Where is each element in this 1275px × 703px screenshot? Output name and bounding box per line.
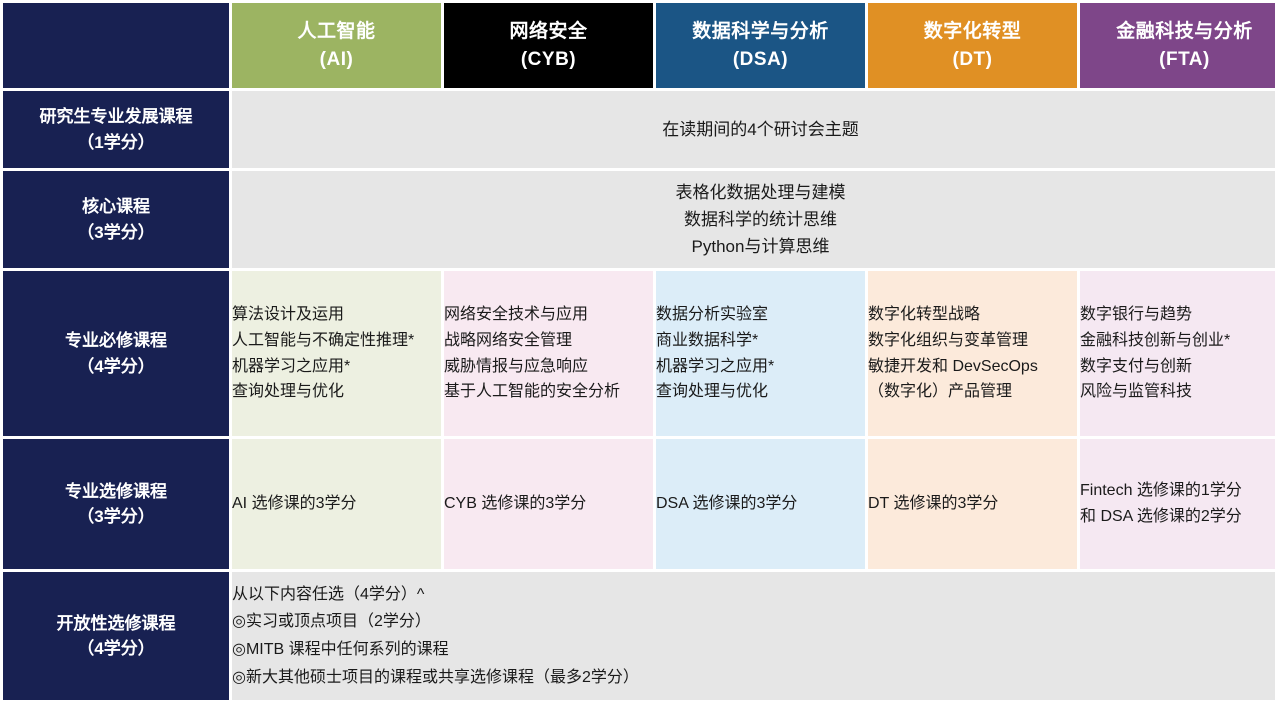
table-row-core: 核心课程 （3学分） 表格化数据处理与建模 数据科学的统计思维 Python与计…	[3, 171, 1275, 268]
cell-required-ai-line-2: 人工智能与不确定性推理*	[232, 328, 441, 354]
column-header-dsa-name: 数据科学与分析	[692, 21, 829, 42]
cell-required-ai-line-3: 机器学习之应用*	[232, 354, 441, 380]
row-label-pgpd-text: 研究生专业发展课程	[40, 107, 193, 126]
column-header-cyb-name: 网络安全	[509, 21, 587, 42]
row-label-core-credits: （3学分）	[3, 220, 229, 246]
column-header-dt-name: 数字化转型	[924, 21, 1022, 42]
cell-open-line-2: ◎实习或顶点项目（2学分）	[232, 608, 1275, 636]
column-header-ai: 人工智能 (AI)	[232, 3, 441, 88]
cell-required-ai-line-1: 算法设计及运用	[232, 302, 441, 328]
column-header-ai-name: 人工智能	[297, 21, 375, 42]
cell-elective-dsa: DSA 选修课的3学分	[656, 439, 865, 569]
cell-elective-cyb: CYB 选修课的3学分	[444, 439, 653, 569]
cell-required-fta-line-4: 风险与监管科技	[1080, 379, 1275, 405]
row-label-core: 核心课程 （3学分）	[3, 171, 229, 268]
column-header-dsa: 数据科学与分析 (DSA)	[656, 3, 865, 88]
curriculum-table: 人工智能 (AI) 网络安全 (CYB) 数据科学与分析 (DSA) 数字化转型…	[0, 0, 1275, 703]
cell-core-line-1: 表格化数据处理与建模	[232, 179, 1275, 206]
row-label-elective-credits: （3学分）	[3, 504, 229, 530]
cell-elective-cyb-line-1: CYB 选修课的3学分	[444, 491, 653, 517]
row-label-open: 开放性选修课程 （4学分）	[3, 572, 229, 700]
column-header-cyb-abbr: (CYB)	[444, 46, 653, 74]
cell-elective-dt-line-1: DT 选修课的3学分	[868, 491, 1077, 517]
cell-elective-dsa-line-1: DSA 选修课的3学分	[656, 491, 865, 517]
cell-required-fta-line-3: 数字支付与创新	[1080, 354, 1275, 380]
cell-elective-dt: DT 选修课的3学分	[868, 439, 1077, 569]
cell-open-line-3: ◎MITB 课程中任何系列的课程	[232, 636, 1275, 664]
cell-required-fta-line-2: 金融科技创新与创业*	[1080, 328, 1275, 354]
row-label-core-text: 核心课程	[82, 197, 150, 216]
cell-pgpd-line-1: 在读期间的4个研讨会主题	[232, 116, 1275, 143]
table-row-open: 开放性选修课程 （4学分） 从以下内容任选（4学分）^ ◎实习或顶点项目（2学分…	[3, 572, 1275, 700]
column-header-dt-abbr: (DT)	[868, 46, 1077, 74]
row-label-elective: 专业选修课程 （3学分）	[3, 439, 229, 569]
cell-required-dsa: 数据分析实验室 商业数据科学* 机器学习之应用* 查询处理与优化	[656, 271, 865, 436]
row-label-pgpd: 研究生专业发展课程 （1学分）	[3, 91, 229, 168]
cell-pgpd-merged: 在读期间的4个研讨会主题	[232, 91, 1275, 168]
column-header-fta: 金融科技与分析 (FTA)	[1080, 3, 1275, 88]
cell-required-dt: 数字化转型战略 数字化组织与变革管理 敏捷开发和 DevSecOps （数字化）…	[868, 271, 1077, 436]
cell-required-dsa-line-4: 查询处理与优化	[656, 379, 865, 405]
row-label-required: 专业必修课程 （4学分）	[3, 271, 229, 436]
cell-required-dsa-line-3: 机器学习之应用*	[656, 354, 865, 380]
cell-required-ai: 算法设计及运用 人工智能与不确定性推理* 机器学习之应用* 查询处理与优化	[232, 271, 441, 436]
cell-required-cyb-line-2: 战略网络安全管理	[444, 328, 653, 354]
cell-required-dsa-line-1: 数据分析实验室	[656, 302, 865, 328]
column-header-dt: 数字化转型 (DT)	[868, 3, 1077, 88]
row-label-required-text: 专业必修课程	[65, 331, 167, 350]
curriculum-table-container: 人工智能 (AI) 网络安全 (CYB) 数据科学与分析 (DSA) 数字化转型…	[0, 0, 1275, 688]
table-row-pgpd: 研究生专业发展课程 （1学分） 在读期间的4个研讨会主题	[3, 91, 1275, 168]
cell-open-line-1: 从以下内容任选（4学分）^	[232, 581, 1275, 609]
table-row-required: 专业必修课程 （4学分） 算法设计及运用 人工智能与不确定性推理* 机器学习之应…	[3, 271, 1275, 436]
cell-required-dsa-line-2: 商业数据科学*	[656, 328, 865, 354]
cell-required-dt-line-3: 敏捷开发和 DevSecOps	[868, 354, 1077, 380]
column-header-fta-name: 金融科技与分析	[1116, 21, 1253, 42]
table-header-row: 人工智能 (AI) 网络安全 (CYB) 数据科学与分析 (DSA) 数字化转型…	[3, 3, 1275, 88]
cell-open-line-4: ◎新大其他硕士项目的课程或共享选修课程（最多2学分）	[232, 664, 1275, 692]
cell-core-merged: 表格化数据处理与建模 数据科学的统计思维 Python与计算思维	[232, 171, 1275, 268]
cell-required-dt-line-1: 数字化转型战略	[868, 302, 1077, 328]
column-header-fta-abbr: (FTA)	[1080, 46, 1275, 74]
cell-elective-ai: AI 选修课的3学分	[232, 439, 441, 569]
cell-elective-fta-line-1: Fintech 选修课的1学分	[1080, 478, 1275, 504]
cell-required-cyb: 网络安全技术与应用 战略网络安全管理 威胁情报与应急响应 基于人工智能的安全分析	[444, 271, 653, 436]
cell-core-line-2: 数据科学的统计思维	[232, 206, 1275, 233]
column-header-ai-abbr: (AI)	[232, 46, 441, 74]
cell-required-cyb-line-1: 网络安全技术与应用	[444, 302, 653, 328]
row-label-required-credits: （4学分）	[3, 354, 229, 380]
header-corner-cell	[3, 3, 229, 88]
cell-required-fta-line-1: 数字银行与趋势	[1080, 302, 1275, 328]
column-header-dsa-abbr: (DSA)	[656, 46, 865, 74]
cell-elective-fta: Fintech 选修课的1学分 和 DSA 选修课的2学分	[1080, 439, 1275, 569]
cell-required-cyb-line-3: 威胁情报与应急响应	[444, 354, 653, 380]
column-header-cyb: 网络安全 (CYB)	[444, 3, 653, 88]
row-label-pgpd-credits: （1学分）	[3, 130, 229, 156]
cell-required-cyb-line-4: 基于人工智能的安全分析	[444, 379, 653, 405]
cell-required-fta: 数字银行与趋势 金融科技创新与创业* 数字支付与创新 风险与监管科技	[1080, 271, 1275, 436]
cell-required-ai-line-4: 查询处理与优化	[232, 379, 441, 405]
cell-core-line-3: Python与计算思维	[232, 233, 1275, 260]
table-row-elective: 专业选修课程 （3学分） AI 选修课的3学分 CYB 选修课的3学分 DSA …	[3, 439, 1275, 569]
row-label-open-credits: （4学分）	[3, 636, 229, 662]
row-label-elective-text: 专业选修课程	[65, 482, 167, 501]
cell-open-merged: 从以下内容任选（4学分）^ ◎实习或顶点项目（2学分） ◎MITB 课程中任何系…	[232, 572, 1275, 700]
cell-elective-ai-line-1: AI 选修课的3学分	[232, 491, 441, 517]
cell-required-dt-line-2: 数字化组织与变革管理	[868, 328, 1077, 354]
cell-required-dt-line-4: （数字化）产品管理	[868, 379, 1077, 405]
cell-elective-fta-line-2: 和 DSA 选修课的2学分	[1080, 504, 1275, 530]
row-label-open-text: 开放性选修课程	[57, 614, 176, 633]
